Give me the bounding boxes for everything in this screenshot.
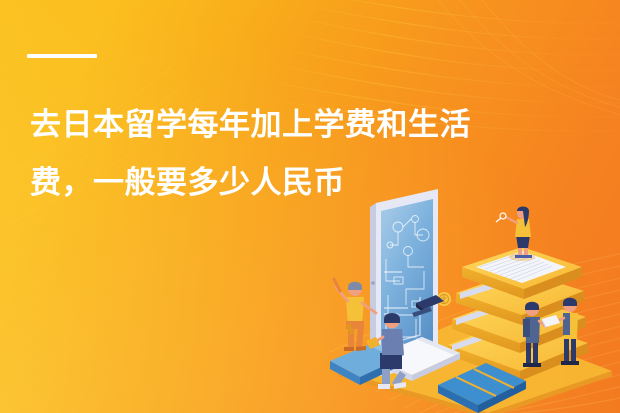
promo-banner: 去日本留学每年加上学费和生活 费，一般要多少人民币 bbox=[0, 0, 620, 413]
illustration bbox=[320, 185, 620, 413]
decorative-rule bbox=[27, 54, 97, 58]
headline-line-1: 去日本留学每年加上学费和生活 bbox=[30, 96, 560, 154]
